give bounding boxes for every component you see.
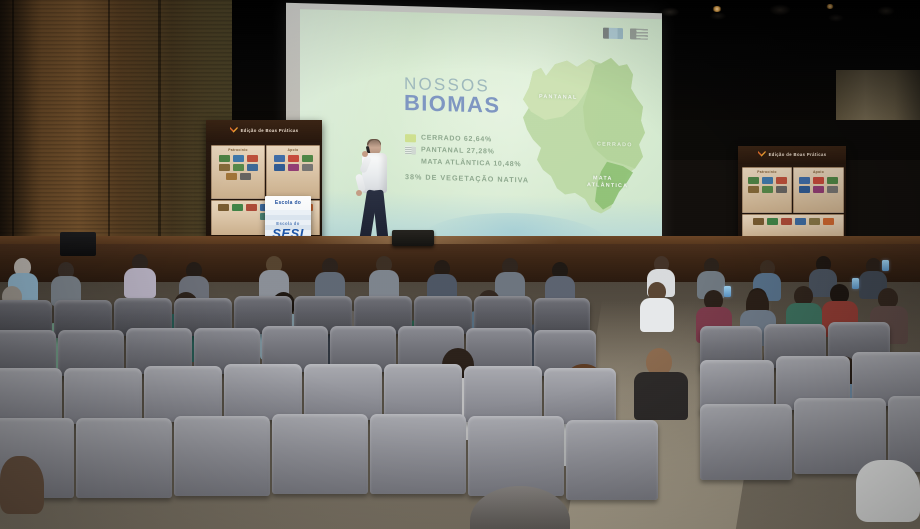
seat [64, 368, 142, 424]
sponsor-logo-grid [743, 174, 791, 196]
legend-label-cerrado: CERRADO 62,64% [421, 135, 492, 144]
stage-lamp [826, 4, 834, 9]
sponsor-panel: Patrocínio [211, 145, 265, 199]
banner-header-left: Edição de Boas Práticas [206, 120, 322, 142]
map-label-atlantica: ATLÂNTICA [587, 182, 628, 189]
phone-screen-icon [724, 286, 731, 297]
seat [76, 418, 172, 498]
pa-speaker-cabinet [60, 232, 96, 256]
legend-swatch-pantanal [405, 146, 416, 154]
stage-lamp [712, 6, 722, 12]
seat [370, 414, 466, 494]
sponsor-panel: Apoio [793, 167, 844, 213]
attendee-head [856, 460, 920, 522]
floor-monitor-speaker [392, 230, 434, 246]
auditorium-photo: NOSSOS BIOMAS CERRADO 62,64% PANTANAL 27… [0, 0, 920, 529]
seat [700, 404, 792, 480]
seat [174, 416, 270, 496]
map-label-cerrado: CERRADO [597, 141, 633, 148]
seat [304, 364, 382, 420]
seat [566, 420, 658, 500]
map-svg [515, 41, 651, 221]
sponsor-banner-right: Edição de Boas Práticas Patrocínio Apoio [738, 146, 846, 250]
institution-logo-2-icon [630, 28, 648, 40]
event-logo-icon [230, 127, 238, 136]
legend-label-pantanal: PANTANAL 27,28% [421, 147, 495, 156]
stage-lighting-rig [640, 2, 920, 36]
event-logo-icon [758, 151, 766, 160]
seat [272, 414, 368, 494]
sponsor-logo-grid [743, 215, 843, 228]
map-label-pantanal: PANTANAL [539, 94, 577, 101]
seat [0, 368, 62, 424]
seat [468, 416, 564, 496]
seat [224, 364, 302, 420]
attendee-body [124, 268, 156, 298]
banner-header-text-right: Edição de Boas Práticas [769, 153, 827, 158]
presenter-hand-mic [362, 151, 368, 157]
phone-screen-icon [852, 278, 859, 289]
legend-label-mata-atlantica: MATA ATLÂNTICA 10,48% [405, 158, 521, 168]
sesi-top-text: Escola do [275, 200, 301, 206]
institution-logo-1-icon [603, 28, 623, 40]
banner-header-text-left: Edição de Boas Práticas [241, 129, 299, 134]
seat [384, 364, 462, 420]
attendee-body [640, 298, 674, 332]
map-label-mata: MATA [593, 175, 613, 182]
presenter-hand-free [356, 190, 362, 196]
phone-screen-icon [882, 260, 889, 271]
sponsor-logo-grid [212, 152, 264, 183]
attendee-head [0, 456, 44, 514]
legend-swatch-cerrado [405, 134, 416, 142]
sponsor-panel: Apoio [266, 145, 320, 199]
sponsor-panel: Patrocínio [742, 167, 792, 213]
slide-logos [603, 28, 648, 40]
attendee-body [634, 372, 688, 420]
map-mato-grosso-do-sul: PANTANAL CERRADO MATA ATLÂNTICA [515, 41, 651, 221]
sponsor-logo-grid [267, 152, 319, 174]
banner-header-right: Edição de Boas Práticas [738, 146, 846, 164]
sesi-top-row: Escola do [265, 197, 311, 209]
presentation-slide: NOSSOS BIOMAS CERRADO 62,64% PANTANAL 27… [300, 9, 662, 251]
slide-title-large: BIOMAS [404, 90, 500, 119]
seat [144, 366, 222, 422]
seat [464, 366, 542, 422]
sponsor-logo-grid [794, 174, 843, 196]
presenter [356, 140, 396, 245]
projection-screen: NOSSOS BIOMAS CERRADO 62,64% PANTANAL 27… [286, 3, 662, 260]
